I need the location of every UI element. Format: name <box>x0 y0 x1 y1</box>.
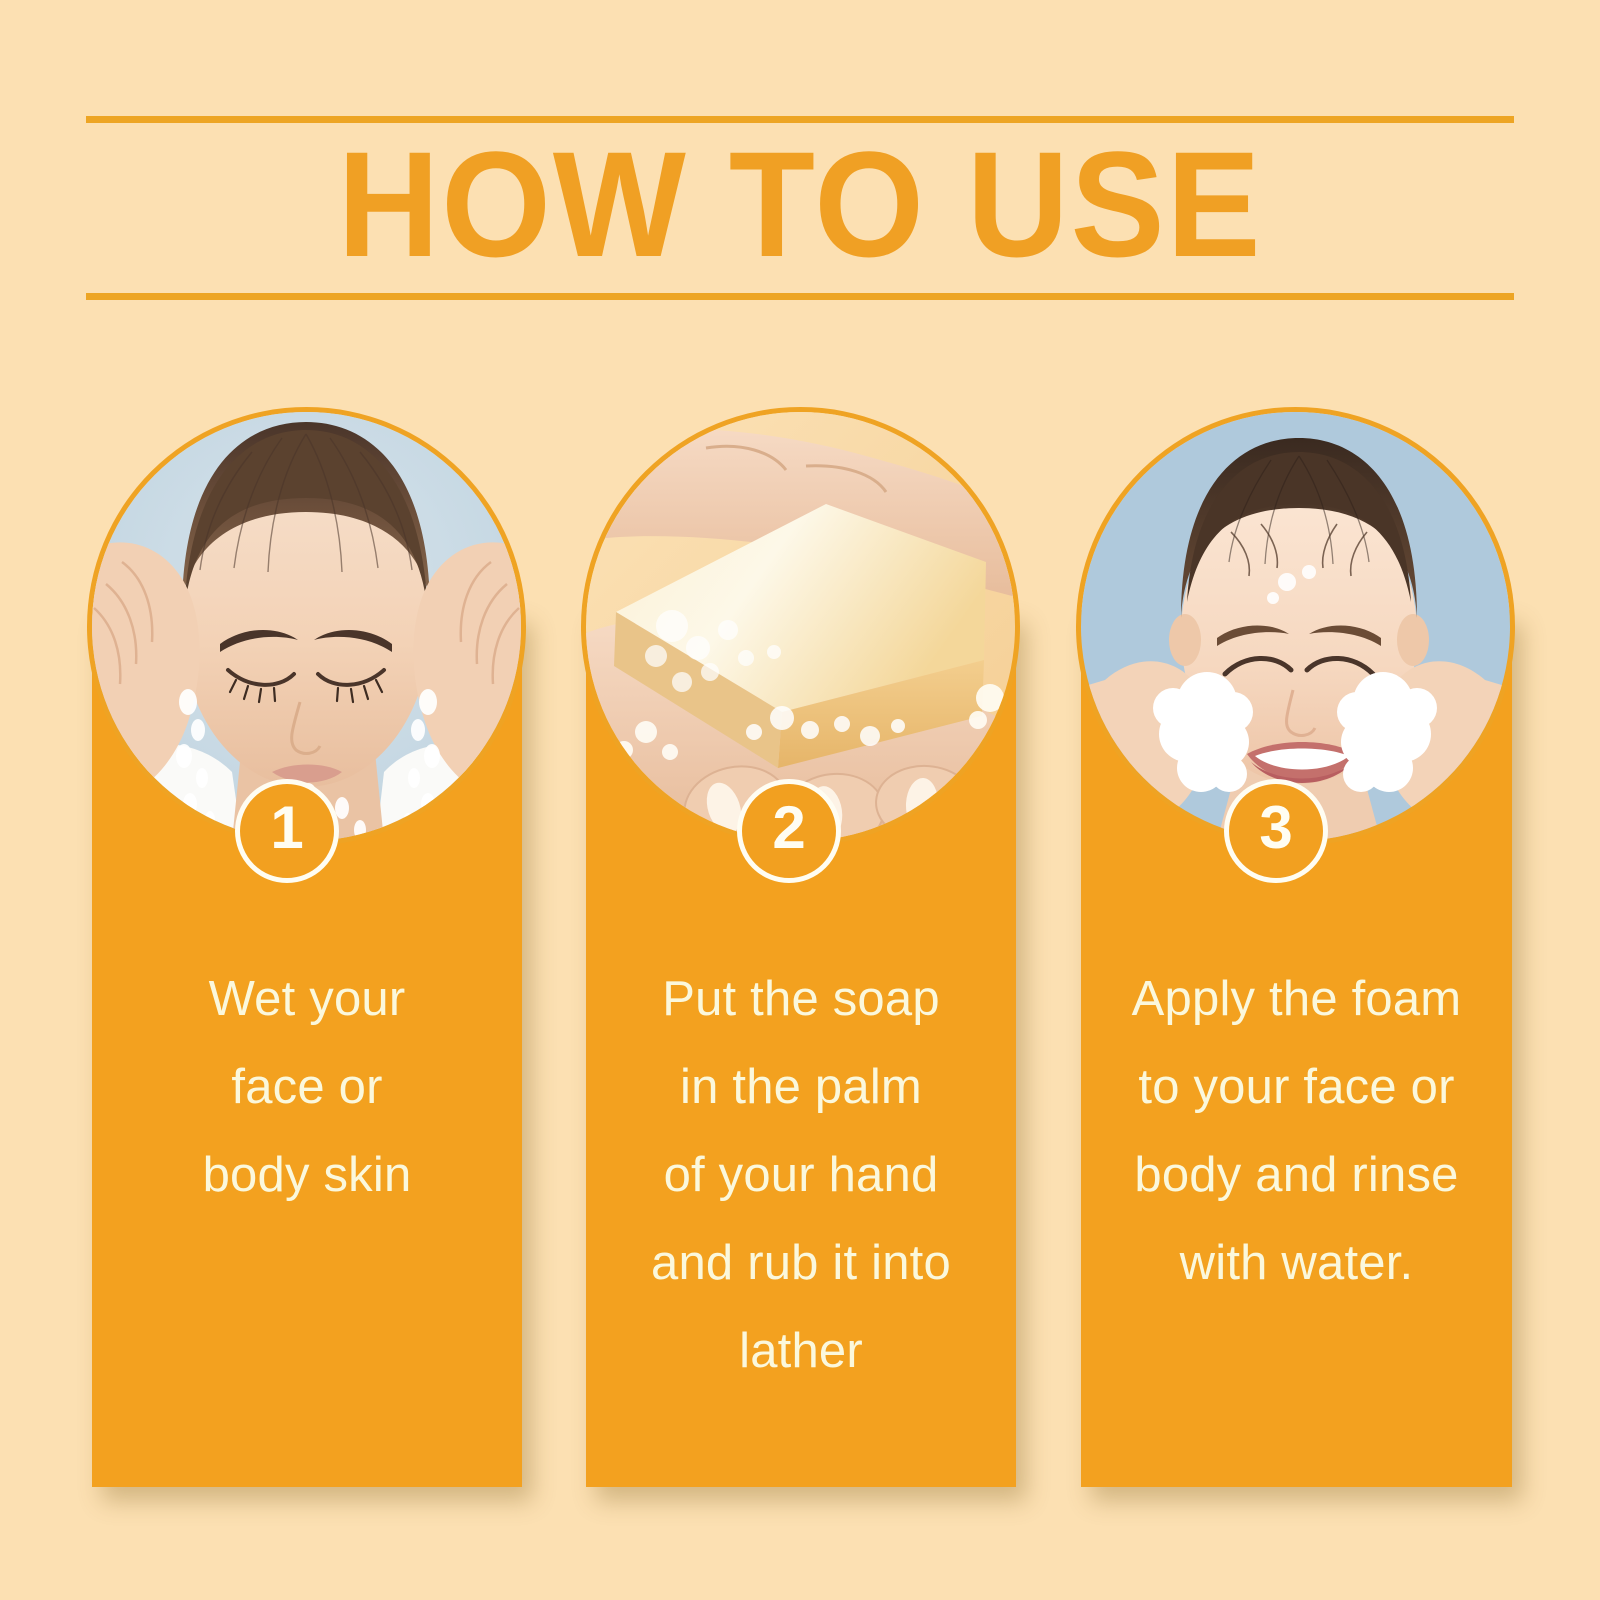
step-caption-3-line-2: to your face or <box>1093 1043 1500 1131</box>
step-caption-2-line-4: and rub it into <box>598 1219 1004 1307</box>
step-caption-2: Put the soap in the palm of your hand an… <box>586 955 1016 1395</box>
how-to-use-infographic: HOW TO USE <box>0 0 1600 1600</box>
step-caption-1-line-2: face or <box>104 1043 510 1131</box>
step-caption-2-line-1: Put the soap <box>598 955 1004 1043</box>
step-caption-3-line-1: Apply the foam <box>1093 955 1500 1043</box>
step-caption-1-line-1: Wet your <box>104 955 510 1043</box>
header-rule-bottom <box>86 293 1514 300</box>
step-caption-2-line-5: lather <box>598 1307 1004 1395</box>
step-number-badge-3: 3 <box>1224 779 1328 883</box>
step-caption-1: Wet your face or body skin <box>92 955 522 1219</box>
step-caption-3-line-4: with water. <box>1093 1219 1500 1307</box>
step-caption-2-line-2: in the palm <box>598 1043 1004 1131</box>
woman-applying-foam-icon <box>1081 412 1510 841</box>
step-caption-1-line-3: body skin <box>104 1131 510 1219</box>
step-number-badge-1: 1 <box>235 779 339 883</box>
step-number-badge-2: 2 <box>737 779 841 883</box>
step-caption-2-line-3: of your hand <box>598 1131 1004 1219</box>
page-title: HOW TO USE <box>48 124 1552 284</box>
step-number-2: 2 <box>772 798 805 858</box>
soap-bar-in-hands-icon <box>586 412 1015 841</box>
step-number-3: 3 <box>1259 798 1292 858</box>
step-caption-3-line-3: body and rinse <box>1093 1131 1500 1219</box>
step-2-photo <box>586 412 1015 841</box>
woman-splashing-water-icon <box>92 412 521 841</box>
step-3-photo <box>1081 412 1510 841</box>
step-caption-3: Apply the foam to your face or body and … <box>1081 955 1512 1307</box>
step-number-1: 1 <box>270 798 303 858</box>
step-1-photo <box>92 412 521 841</box>
